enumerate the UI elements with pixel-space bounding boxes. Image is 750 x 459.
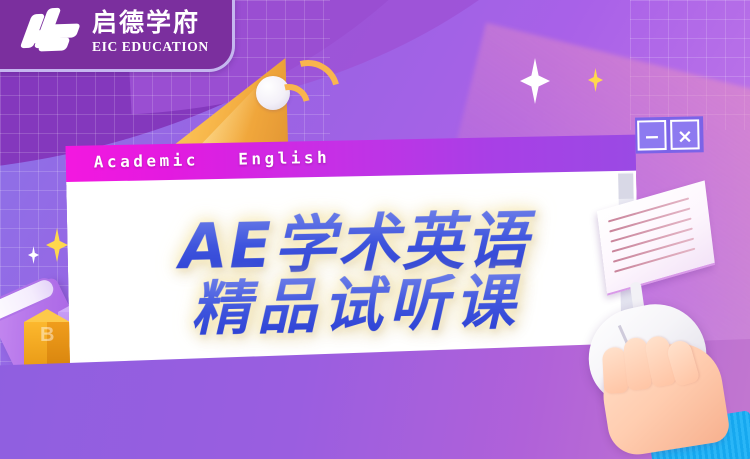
hand-cursor-icon bbox=[597, 337, 732, 458]
promo-banner: 启德学府 EIC EDUCATION AE C B Academic Engli… bbox=[0, 0, 750, 459]
cube-letter-b: B bbox=[40, 324, 54, 347]
window-title: Academic English bbox=[94, 148, 331, 172]
sparkle-icon bbox=[588, 68, 603, 92]
close-button[interactable]: × bbox=[670, 119, 700, 150]
brand-text: 启德学府 EIC EDUCATION bbox=[92, 10, 209, 54]
sparkle-icon bbox=[28, 246, 39, 264]
minimize-button[interactable]: − bbox=[637, 120, 667, 151]
brand-name-cn: 启德学府 bbox=[92, 10, 209, 36]
window-controls: − × bbox=[635, 116, 704, 153]
alphabet-cube-b: B bbox=[24, 322, 70, 368]
mouse-and-hand-illustration bbox=[588, 300, 750, 459]
brand-name-en: EIC EDUCATION bbox=[92, 39, 209, 55]
eic-monogram-icon bbox=[24, 8, 82, 60]
brand-logo-banner: 启德学府 EIC EDUCATION bbox=[0, 0, 235, 72]
window-scrollbar-thumb[interactable] bbox=[618, 173, 634, 199]
cube-letter-c: C bbox=[80, 316, 99, 347]
sparkle-icon bbox=[520, 58, 550, 104]
sparkle-icon bbox=[46, 228, 68, 262]
